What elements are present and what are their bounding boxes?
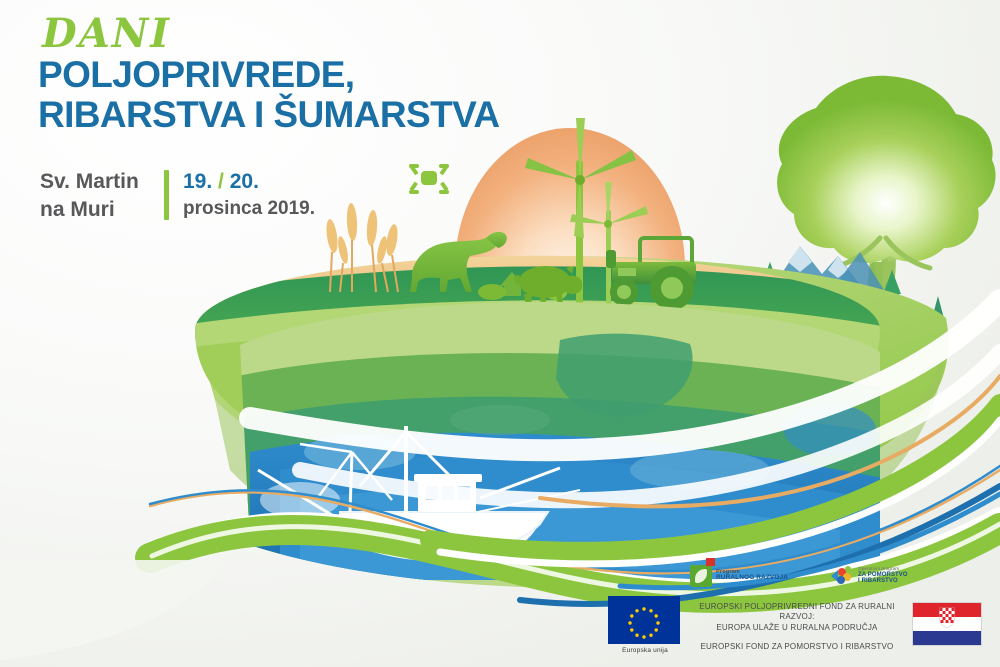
program-ruralnog-razvoja-logo: Program RURALNOG RAZVOJA <box>690 565 788 587</box>
croatia-coat-of-arms-icon <box>939 607 956 629</box>
funding-row: Europska unija EUROPSKI POLJOPRIVREDNI F… <box>608 596 982 654</box>
flag-mark-icon <box>706 558 715 566</box>
date-days: 19. / 20. <box>183 168 315 195</box>
croatia-flag-icon <box>912 602 982 646</box>
funding-text-line-2: EUROPA ULAŽE U RURALNA PODRUČJA <box>692 623 902 633</box>
date-day-first: 19. <box>183 170 212 193</box>
eu-flag-icon <box>608 596 680 644</box>
event-meta-block: Sv. Martin na Muri 19. / 20. prosinca 20… <box>40 168 315 225</box>
fish-icon <box>828 564 854 588</box>
headline-line-3: RIBARSTVA I ŠUMARSTVA <box>38 96 558 134</box>
funding-text: EUROPSKI POLJOPRIVREDNI FOND ZA RURALNI … <box>692 596 902 651</box>
funding-text-line-3: EUROPSKI FOND ZA POMORSTVO I RIBARSTVO <box>692 642 902 651</box>
poster-root: DANI POLJOPRIVREDE, RIBARSTVA I ŠUMARSTV… <box>0 0 1000 667</box>
eu-caption: Europska unija <box>608 647 682 654</box>
date-separator: / <box>218 170 224 193</box>
opr-label-line-3: I RIBARSTVO <box>858 578 908 584</box>
date-month-year: prosinca 2019. <box>183 197 315 222</box>
prr-label-line-2: RURALNOG RAZVOJA <box>716 575 788 582</box>
meta-divider <box>164 170 169 220</box>
leaf-icon <box>690 565 712 587</box>
headline-block: DANI POLJOPRIVREDE, RIBARSTVA I ŠUMARSTV… <box>38 14 558 133</box>
funding-text-line-1: EUROPSKI POLJOPRIVREDNI FOND ZA RURALNI … <box>692 602 902 623</box>
operativni-program-logo: Operativni program ZA POMORSTVO I RIBARS… <box>828 564 908 588</box>
location-line-2: na Muri <box>40 196 158 224</box>
program-logo-row: Program RURALNOG RAZVOJA Operativni prog… <box>690 564 908 588</box>
logo-strip: Program RURALNOG RAZVOJA Operativni prog… <box>600 558 992 658</box>
date-day-second: 20. <box>230 170 259 193</box>
event-date: 19. / 20. prosinca 2019. <box>183 168 315 222</box>
event-location: Sv. Martin na Muri <box>40 168 158 225</box>
location-line-1: Sv. Martin <box>40 168 158 196</box>
eu-logo: Europska unija <box>608 596 682 654</box>
headline-line-2: POLJOPRIVREDE, <box>38 56 558 94</box>
headline-dani: DANI <box>42 14 558 54</box>
